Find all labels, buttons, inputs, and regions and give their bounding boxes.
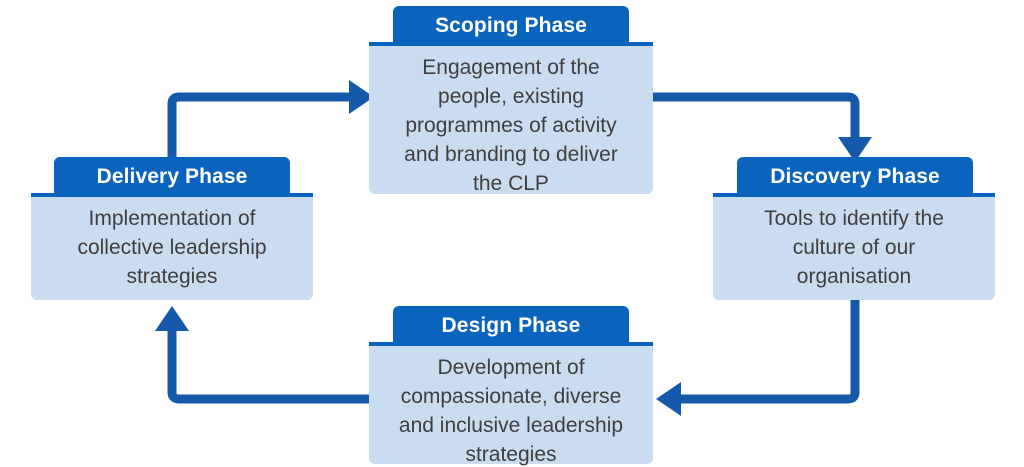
phase-header-discovery: Discovery Phase: [737, 157, 973, 197]
phase-body-discovery: Tools to identify the culture of our org…: [713, 193, 995, 300]
phase-header-design: Design Phase: [393, 306, 629, 346]
phase-header-delivery: Delivery Phase: [54, 157, 290, 197]
phase-header-scoping: Scoping Phase: [393, 6, 629, 46]
arrow-scoping-to-discovery: [646, 97, 872, 162]
phase-body-text-discovery: Tools to identify the culture of our org…: [721, 204, 987, 291]
phase-body-text-delivery: Implementation of collective leadership …: [39, 204, 305, 291]
phase-body-text-design: Development of compassionate, diverse an…: [377, 353, 645, 467]
phase-body-text-scoping: Engagement of the people, existing progr…: [377, 53, 645, 198]
phase-body-delivery: Implementation of collective leadership …: [31, 193, 313, 300]
arrow-design-to-delivery: [155, 306, 372, 399]
phase-body-design: Development of compassionate, diverse an…: [369, 342, 653, 464]
arrow-discovery-to-design: [656, 300, 855, 416]
diagram-canvas: Scoping Phase Engagement of the people, …: [0, 0, 1024, 467]
phase-body-scoping: Engagement of the people, existing progr…: [369, 42, 653, 194]
